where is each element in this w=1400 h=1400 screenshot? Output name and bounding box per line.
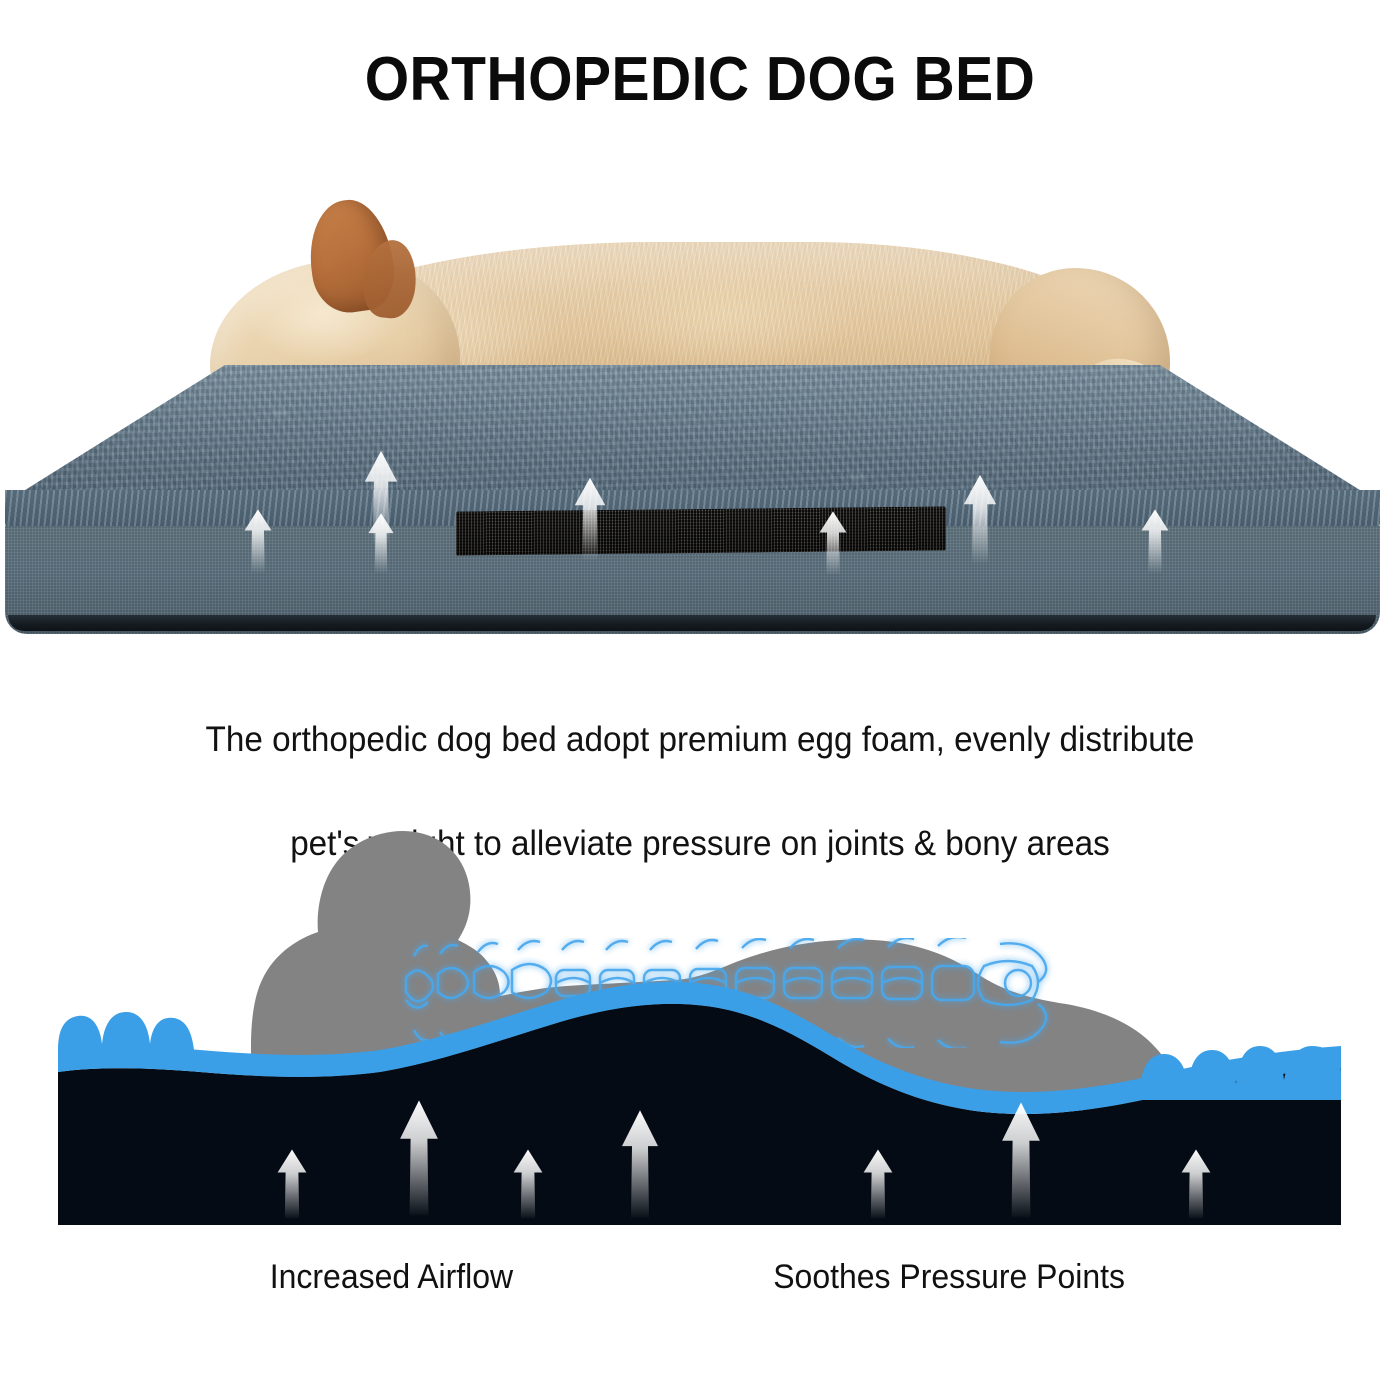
description-line-1: The orthopedic dog bed adopt premium egg… [83, 714, 1318, 766]
airflow-arrow [1000, 1100, 1042, 1220]
cross-section-diagram [0, 800, 1400, 1240]
airflow-arrow [512, 1148, 544, 1220]
airflow-arrow [862, 1148, 894, 1220]
airflow-arrow [367, 512, 395, 574]
airflow-arrow [962, 473, 998, 565]
airflow-arrow [1140, 508, 1170, 574]
airflow-arrow [398, 1098, 440, 1218]
ventilation-mesh-strip [456, 506, 946, 555]
airflow-arrow [1180, 1148, 1212, 1220]
infographic-canvas: ORTHOPEDIC DOG BED The orthopedic dog be… [0, 0, 1400, 1400]
caption-row: Increased Airflow Soothes Pressure Point… [0, 1258, 1400, 1318]
airflow-arrow [573, 476, 607, 562]
page-title: ORTHOPEDIC DOG BED [56, 44, 1344, 115]
airflow-arrow [276, 1148, 308, 1220]
bed-base-trim [8, 615, 1376, 631]
airflow-arrow [243, 508, 273, 574]
airflow-arrow [818, 510, 848, 576]
caption-increased-airflow: Increased Airflow [270, 1258, 513, 1297]
airflow-arrow [620, 1108, 660, 1220]
caption-soothes-pressure-points: Soothes Pressure Points [773, 1258, 1125, 1297]
hero-photo [0, 160, 1400, 630]
